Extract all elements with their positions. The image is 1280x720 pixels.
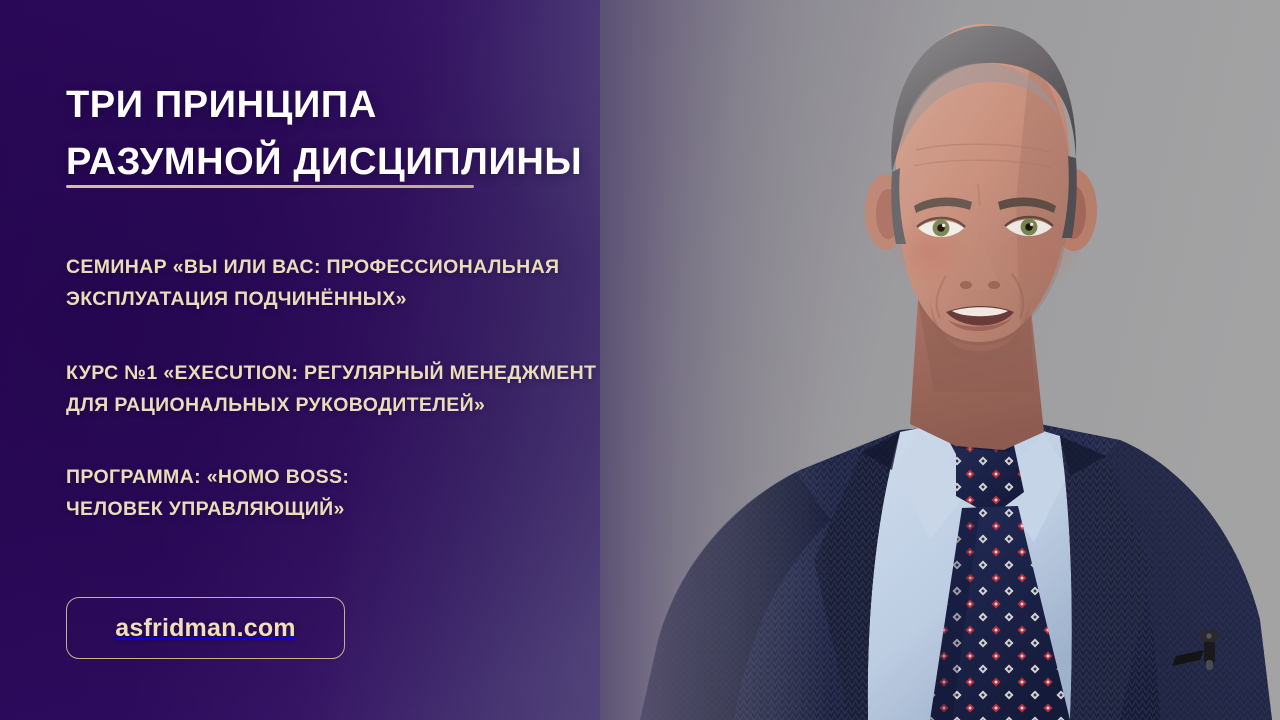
offer-seminar-line-2: ЭКСПЛУАТАЦИЯ ПОДЧИНЁННЫХ»	[66, 284, 796, 316]
offer-seminar-line-1: СЕМИНАР «ВЫ ИЛИ ВАС: ПРОФЕССИОНАЛЬНАЯ	[66, 252, 796, 284]
text-content: ТРИ ПРИНЦИПА РАЗУМНОЙ ДИСЦИПЛИНЫ СЕМИНАР…	[0, 0, 800, 720]
offer-item-course: КУРС №1 «EXECUTION: РЕГУЛЯРНЫЙ МЕНЕДЖМЕН…	[66, 358, 796, 421]
title-divider	[66, 185, 474, 188]
offer-course-line-2: ДЛЯ РАЦИОНАЛЬНЫХ РУКОВОДИТЕЛЕЙ»	[66, 390, 796, 422]
website-button[interactable]: asfridman.com	[66, 597, 345, 659]
page-title: ТРИ ПРИНЦИПА РАЗУМНОЙ ДИСЦИПЛИНЫ	[66, 77, 766, 191]
website-button-label: asfridman.com	[115, 614, 295, 643]
offer-item-seminar: СЕМИНАР «ВЫ ИЛИ ВАС: ПРОФЕССИОНАЛЬНАЯ ЭК…	[66, 252, 796, 315]
title-line-1: ТРИ ПРИНЦИПА	[66, 77, 766, 134]
offer-item-program: ПРОГРАММА: «HOMO BOSS: ЧЕЛОВЕК УПРАВЛЯЮЩ…	[66, 462, 796, 525]
offer-program-line-1: ПРОГРАММА: «HOMO BOSS:	[66, 462, 796, 494]
promo-slide: ТРИ ПРИНЦИПА РАЗУМНОЙ ДИСЦИПЛИНЫ СЕМИНАР…	[0, 0, 1280, 720]
title-line-2: РАЗУМНОЙ ДИСЦИПЛИНЫ	[66, 134, 766, 191]
offer-program-line-2: ЧЕЛОВЕК УПРАВЛЯЮЩИЙ»	[66, 494, 796, 526]
offer-course-line-1: КУРС №1 «EXECUTION: РЕГУЛЯРНЫЙ МЕНЕДЖМЕН…	[66, 358, 796, 390]
